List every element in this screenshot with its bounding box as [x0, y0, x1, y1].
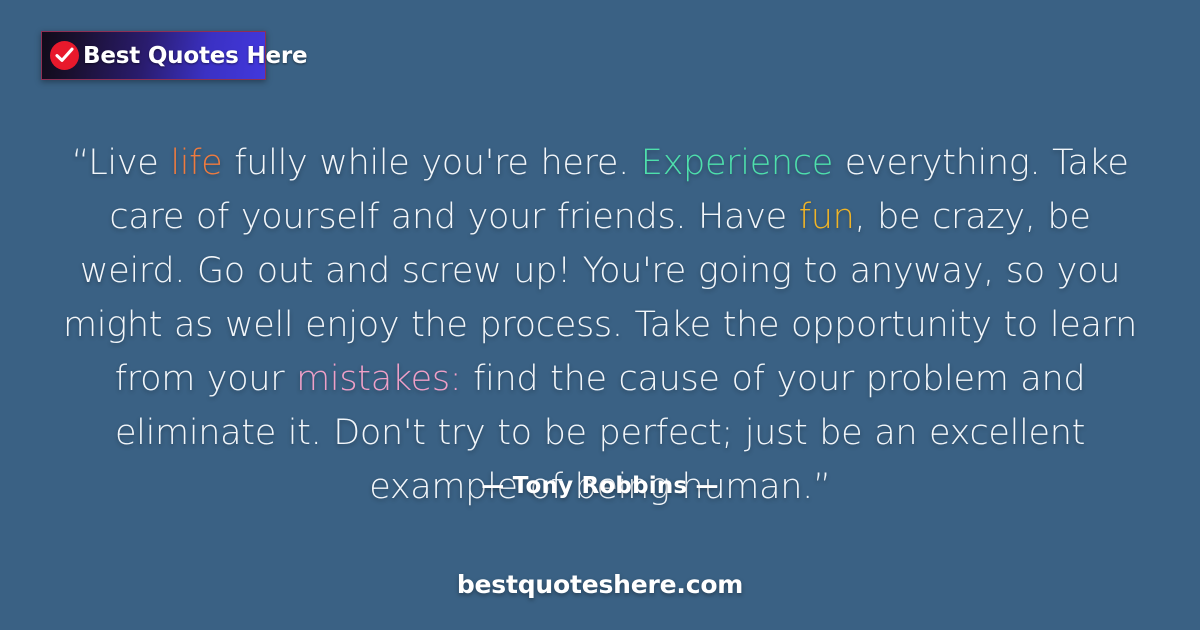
check-circle-icon	[50, 41, 79, 70]
site-watermark: bestquoteshere.com	[0, 570, 1200, 599]
quote-part-2: fully while you're here.	[222, 143, 640, 183]
quote-author: — Tony Robbins —	[0, 473, 1200, 499]
quote-part-1: “Live	[71, 143, 170, 183]
logo-text: Best Quotes Here	[83, 43, 307, 69]
quote-highlight-life: life	[170, 143, 222, 183]
quote-highlight-fun: fun	[799, 197, 855, 237]
quote-card: Best Quotes Here “Live life fully while …	[0, 0, 1200, 630]
quote-highlight-experience: Experience	[641, 143, 833, 183]
quote-highlight-mistakes: mistakes:	[296, 359, 461, 399]
logo-badge[interactable]: Best Quotes Here	[41, 31, 266, 80]
quote-text: “Live life fully while you're here. Expe…	[60, 136, 1140, 514]
